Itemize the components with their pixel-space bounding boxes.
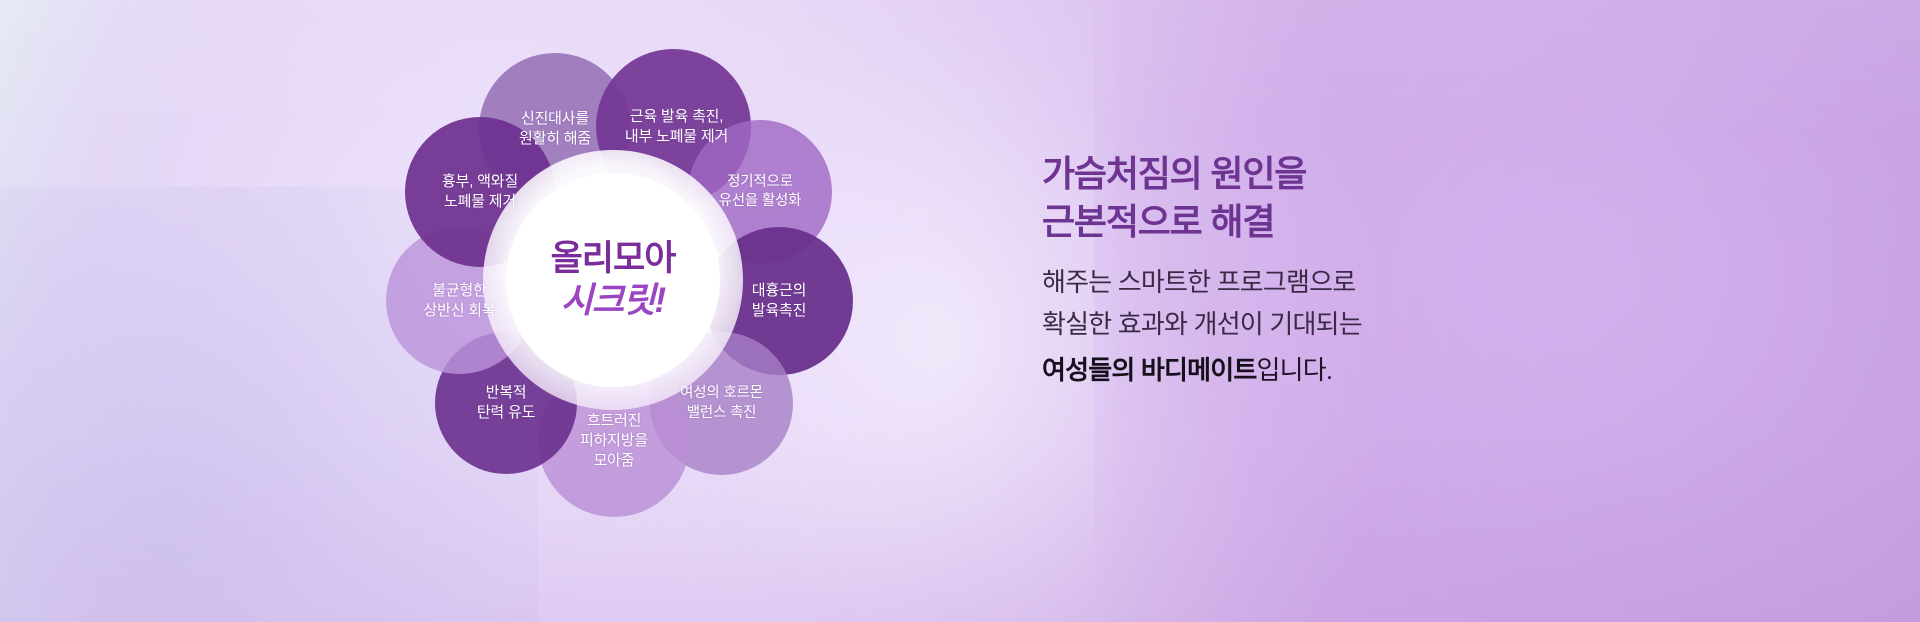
brand-center-disc: 올리모아 시크릿! [506, 173, 720, 387]
brand-name: 올리모아 [551, 240, 676, 279]
petal-metabolism-label: 신진대사를 원활히 해줌 [519, 109, 591, 149]
body-text: 해주는 스마트한 프로그램으로 확실한 효과와 개선이 기대되는 [1042, 261, 1602, 345]
headline: 가슴처짐의 원인을 근본적으로 해결 [1042, 150, 1602, 245]
body-text-last: 여성들의 바디메이트입니다. [1042, 349, 1602, 391]
petal-subcutaneous-fat-label: 흐트러진 피하지방을 모아줌 [580, 411, 648, 471]
body-text-emphasis: 여성들의 바디메이트 [1042, 355, 1257, 385]
petal-mammary-activation-label: 정기적으로 유선을 활성화 [719, 173, 802, 212]
body-text-tail: 입니다. [1257, 355, 1333, 385]
petal-lymph-waste-label: 흉부, 액와질 노폐물 제거 [442, 172, 518, 212]
copy-block: 가슴처짐의 원인을 근본적으로 해결 해주는 스마트한 프로그램으로 확실한 효… [1042, 150, 1602, 391]
brand-tagline: 시크릿! [561, 282, 665, 321]
benefit-petal-diagram: 신진대사를 원활히 해줌 근육 발육 촉진, 내부 노폐물 제거 정기적으로 유… [375, 45, 835, 515]
promo-banner: 신진대사를 원활히 해줌 근육 발육 촉진, 내부 노폐물 제거 정기적으로 유… [0, 0, 1920, 622]
petal-hormone-balance-label: 여성의 호르몬 밸런스 촉진 [680, 384, 763, 423]
background-vignette [0, 0, 1920, 622]
petal-muscle-growth-label: 근육 발육 촉진, 내부 노폐물 제거 [625, 107, 728, 147]
petal-upper-body-balance-label: 불균형한 상반신 회복 [424, 281, 496, 321]
petal-pectoral-growth-label: 대흉근의 발육촉진 [752, 281, 806, 321]
petal-elasticity-label: 반복적 탄력 유도 [477, 383, 535, 423]
